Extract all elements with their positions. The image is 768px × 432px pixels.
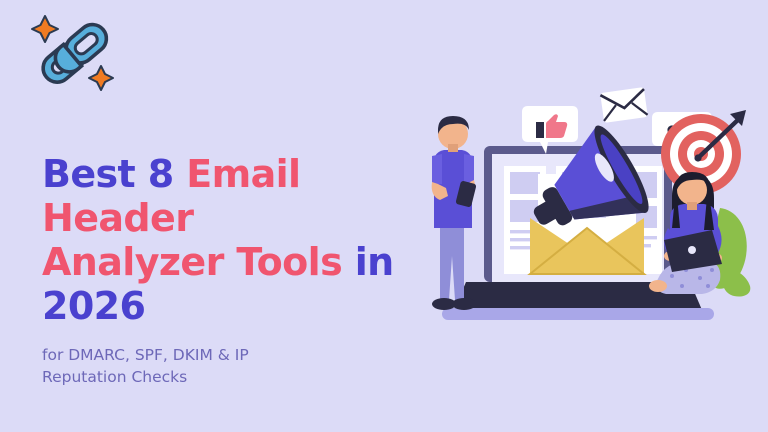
sparkle-icon-1 <box>32 16 58 42</box>
man-pants <box>440 228 464 300</box>
laptop-base <box>442 308 714 320</box>
hero-banner: Best 8 Email Header Analyzer Tools in 20… <box>0 0 768 432</box>
email-marketing-illustration <box>420 78 768 348</box>
floating-envelope-icon <box>600 87 648 123</box>
title-part-in: in <box>342 240 394 284</box>
site-logo[interactable] <box>18 8 126 100</box>
standing-man-with-phone <box>432 116 477 310</box>
page-title: Best 8 Email Header Analyzer Tools in 20… <box>42 152 442 328</box>
man-shoe-right <box>452 298 476 310</box>
woman-foot <box>649 280 667 292</box>
page-subtitle: for DMARC, SPF, DKIM & IP Reputation Che… <box>42 344 292 388</box>
sparkle-icon-2 <box>89 66 113 90</box>
hero-text-block: Best 8 Email Header Analyzer Tools in 20… <box>42 152 442 388</box>
title-part-year: 2026 <box>42 284 145 328</box>
title-part-analyzer-tools: Analyzer Tools <box>42 240 342 284</box>
title-part-best8: Best 8 <box>42 152 186 196</box>
